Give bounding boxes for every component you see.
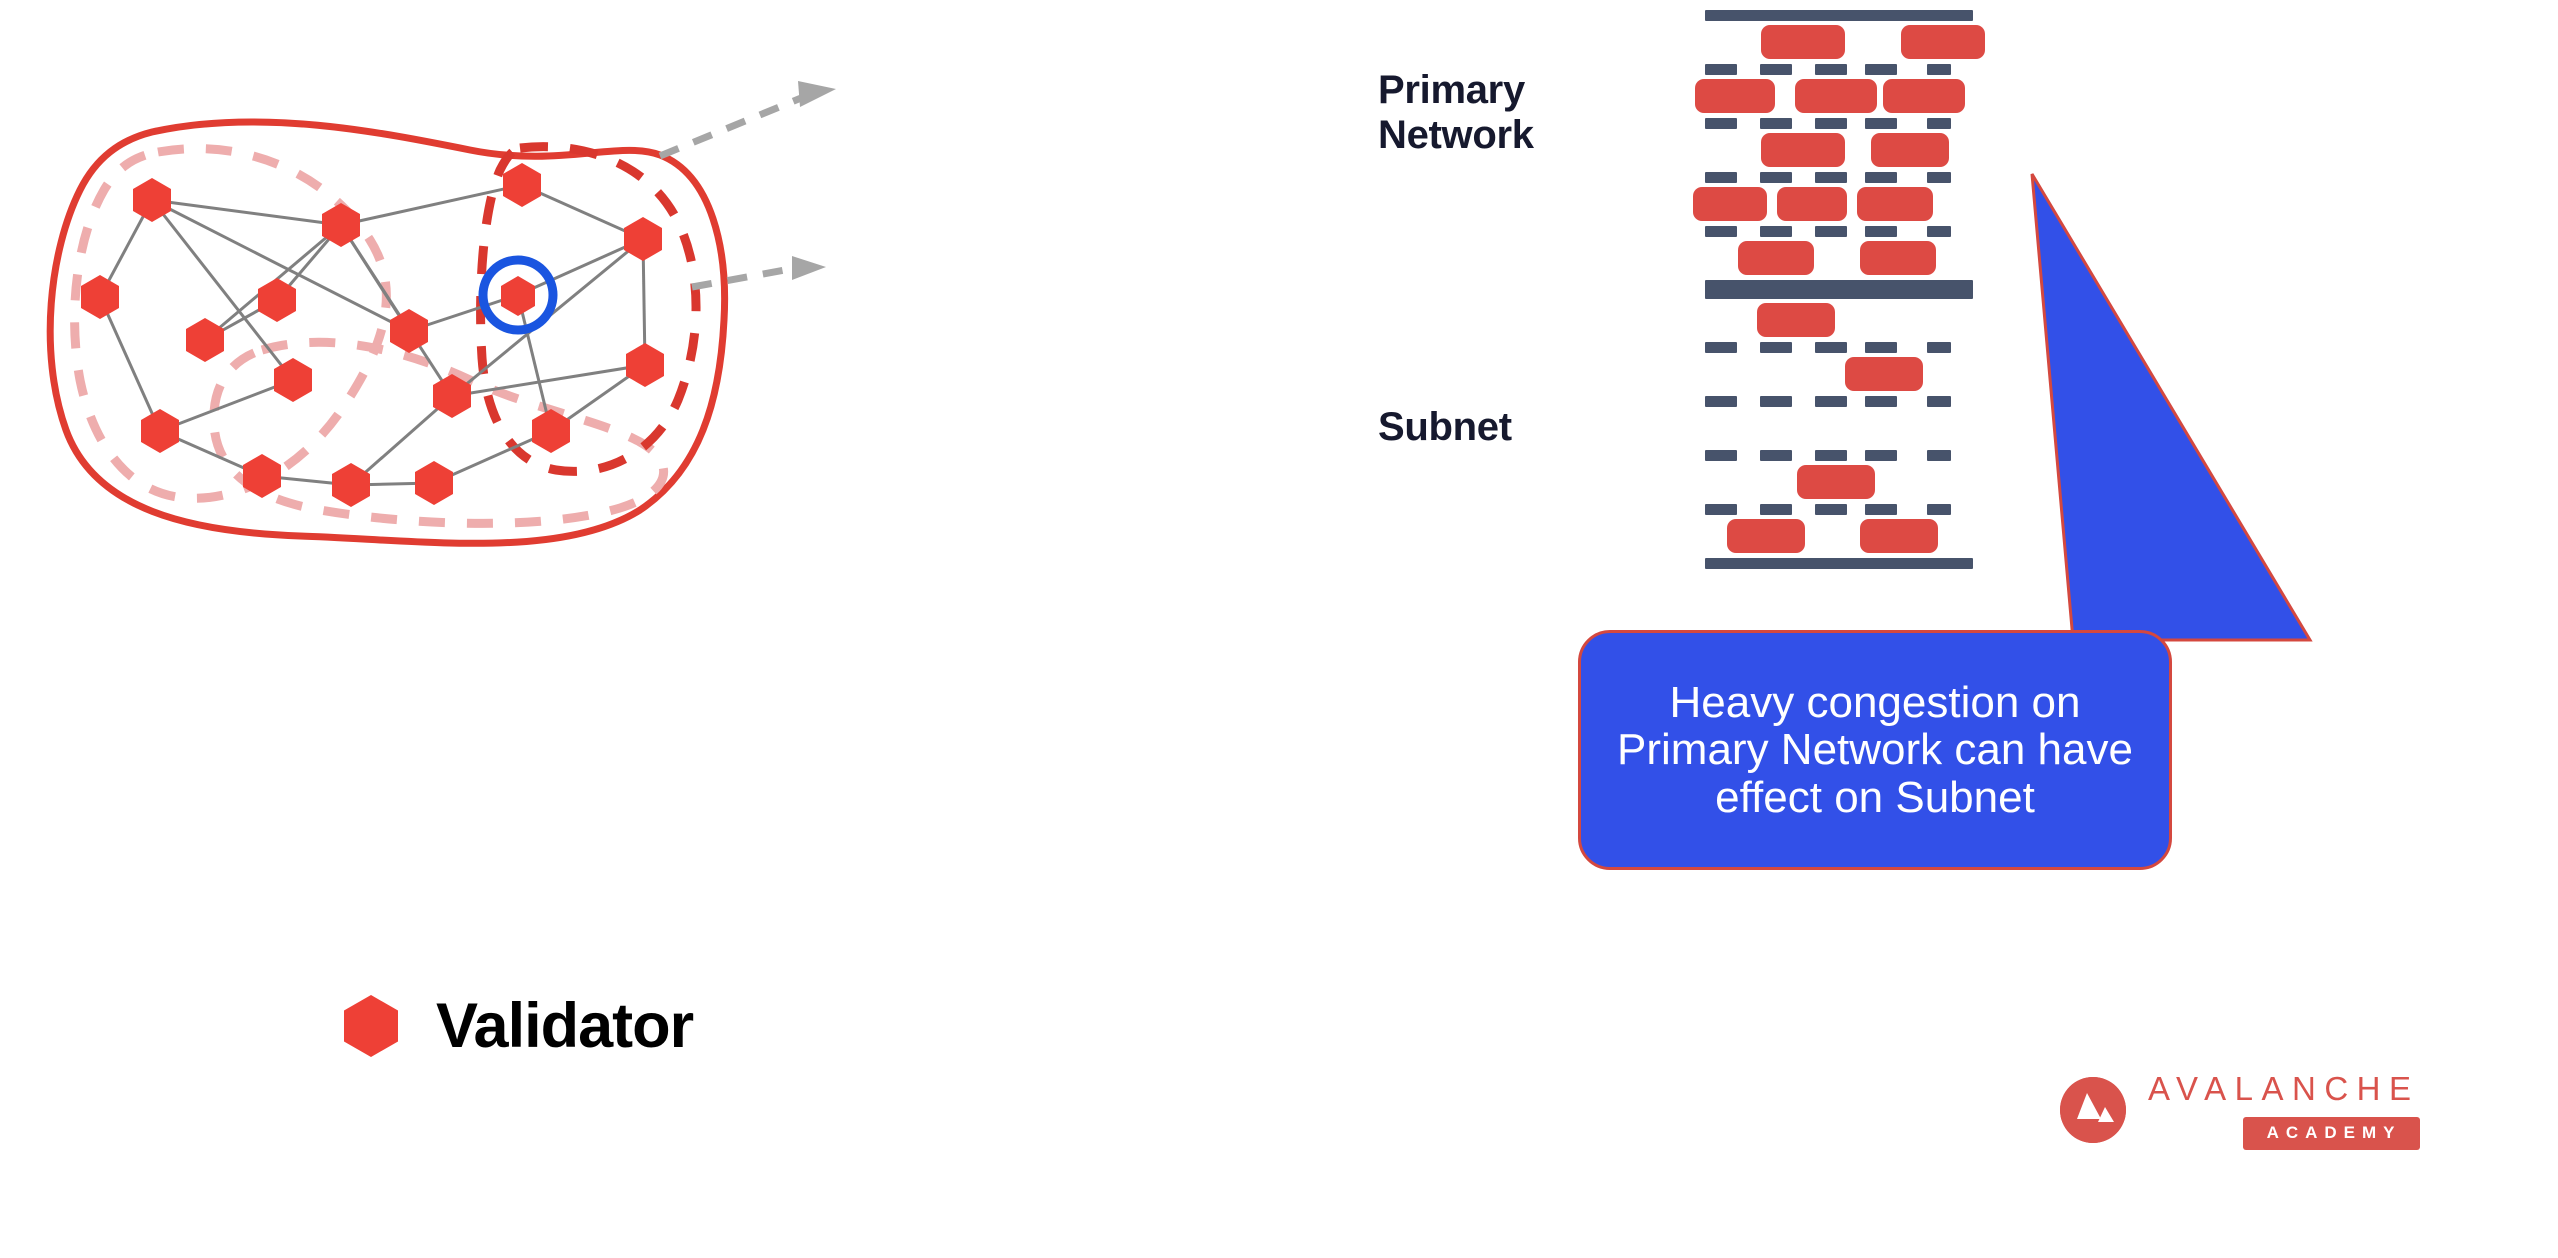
block-separator (1705, 450, 1973, 461)
block-row (1705, 237, 1973, 280)
block-row (1705, 299, 1973, 342)
validator-node (332, 463, 370, 507)
leader-line-primary (660, 96, 806, 156)
block-separator (1705, 118, 1973, 129)
label-primary-network-line1: Primary (1378, 68, 1678, 113)
transaction-block (1695, 79, 1775, 113)
transaction-block (1857, 187, 1933, 221)
transaction-block (1795, 79, 1877, 113)
logo-avalanche-text: AVALANCHE (2148, 1070, 2420, 1108)
transaction-block (1845, 357, 1923, 391)
transaction-block (1860, 241, 1936, 275)
label-subnet: Subnet (1378, 405, 1678, 450)
block-diagram-primary-network (1705, 10, 1973, 291)
transaction-block (1871, 133, 1949, 167)
transaction-block (1883, 79, 1965, 113)
block-row (1705, 353, 1973, 396)
primary-network-inner-dashed-left (75, 149, 387, 499)
transaction-block (1860, 519, 1938, 553)
block-separator (1705, 342, 1973, 353)
validator-network-diagram (0, 0, 1300, 1000)
hexagon-icon (340, 993, 402, 1059)
callout-bubble: Heavy congestion on Primary Network can … (1578, 630, 2172, 870)
validator-node (390, 309, 428, 353)
validator-nodes (81, 163, 664, 507)
label-primary-network: Primary Network (1378, 68, 1678, 158)
logo-academy-badge: ACADEMY (2243, 1117, 2420, 1150)
callout-text: Heavy congestion on Primary Network can … (1610, 679, 2140, 822)
transaction-block (1738, 241, 1814, 275)
validator-node (141, 409, 179, 453)
transaction-block (1757, 303, 1835, 337)
block-separator (1705, 504, 1973, 515)
block-row (1705, 515, 1973, 558)
transaction-block (1777, 187, 1847, 221)
block-row-empty (1705, 407, 1973, 450)
validator-node (532, 409, 570, 453)
avalanche-academy-logo: AVALANCHE ACADEMY (2060, 1070, 2420, 1150)
block-row (1705, 183, 1973, 226)
logo-academy-text: ACADEMY (2267, 1123, 2402, 1143)
block-row (1705, 129, 1973, 172)
block-row (1705, 21, 1973, 64)
validator-node (186, 318, 224, 362)
leader-arrows (660, 96, 806, 287)
arrowhead-primary (798, 81, 836, 107)
transaction-block (1727, 519, 1805, 553)
logo-wordmark: AVALANCHE ACADEMY (2148, 1070, 2420, 1150)
block-row (1705, 461, 1973, 504)
block-rail-top (1705, 288, 1973, 299)
label-primary-network-line2: Network (1378, 113, 1678, 158)
validator-node (503, 163, 541, 207)
block-rail-bottom (1705, 558, 1973, 569)
transaction-block (1761, 133, 1845, 167)
legend: Validator (340, 990, 693, 1062)
transaction-block (1797, 465, 1875, 499)
validator-node (624, 217, 662, 261)
block-separator (1705, 396, 1973, 407)
validator-node (81, 275, 119, 319)
block-diagram-subnet (1705, 288, 1973, 569)
validator-node-highlighted (501, 276, 535, 316)
block-separator (1705, 64, 1973, 75)
validator-node (626, 343, 664, 387)
callout-tail (1980, 160, 2400, 660)
transaction-block (1761, 25, 1845, 59)
transaction-block (1693, 187, 1767, 221)
leader-line-subnet (692, 268, 796, 287)
transaction-block (1901, 25, 1985, 59)
arrowhead-subnet (792, 256, 826, 280)
block-separator (1705, 226, 1973, 237)
validator-node (415, 461, 453, 505)
diagram-canvas: Primary Network Subnet Validator (0, 0, 2558, 1258)
legend-validator-label: Validator (436, 990, 693, 1062)
avalanche-logo-mark-icon (2060, 1077, 2126, 1143)
block-row (1705, 75, 1973, 118)
block-separator (1705, 172, 1973, 183)
block-rail-top (1705, 10, 1973, 21)
